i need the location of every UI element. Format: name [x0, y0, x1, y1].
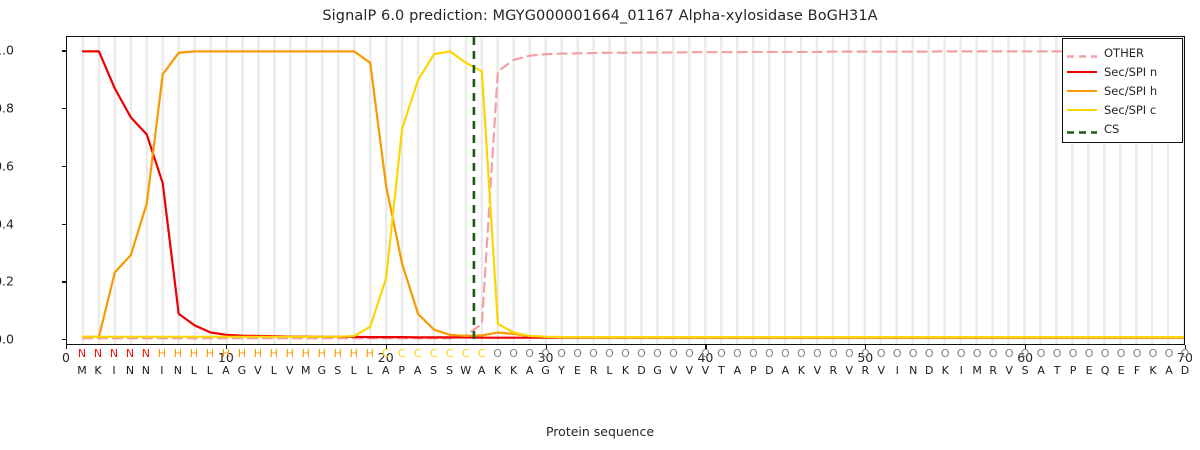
- x-axis-label: Protein sequence: [0, 424, 1200, 439]
- region-letter: N: [126, 346, 134, 362]
- amino-acid-letter: R: [829, 363, 837, 379]
- plot-area: [66, 36, 1185, 345]
- region-letter: H: [238, 346, 246, 362]
- amino-acid-letter: V: [686, 363, 694, 379]
- region-letter: O: [1117, 346, 1126, 362]
- amino-acid-letter: R: [989, 363, 997, 379]
- region-letter: O: [893, 346, 902, 362]
- region-letter: C: [462, 346, 470, 362]
- data-curves: [67, 37, 1184, 344]
- y-tick-label: 0.0: [0, 332, 14, 347]
- amino-acid-letter: L: [207, 363, 213, 379]
- region-letter: O: [1037, 346, 1046, 362]
- amino-acid-letter: D: [925, 363, 933, 379]
- y-tick-label: 1.0: [0, 43, 14, 58]
- amino-acid-letter: G: [653, 363, 662, 379]
- amino-acid-letter: M: [77, 363, 87, 379]
- region-letter: O: [941, 346, 950, 362]
- region-letter: O: [637, 346, 646, 362]
- legend-item: Sec/SPI h: [1067, 81, 1177, 100]
- amino-acid-letter: N: [126, 363, 134, 379]
- region-letter: N: [110, 346, 118, 362]
- region-letter: O: [797, 346, 806, 362]
- region-letter: C: [430, 346, 438, 362]
- legend-line-swatch: [1067, 104, 1097, 115]
- region-letter: O: [509, 346, 518, 362]
- legend-item: OTHER: [1067, 43, 1177, 62]
- amino-acid-letter: S: [1022, 363, 1029, 379]
- amino-acid-letter: A: [1165, 363, 1173, 379]
- amino-acid-letter: T: [718, 363, 725, 379]
- region-letter: O: [749, 346, 758, 362]
- region-letter: O: [781, 346, 790, 362]
- region-letter: N: [94, 346, 102, 362]
- legend-item: Sec/SPI c: [1067, 100, 1177, 119]
- amino-acid-letter: V: [702, 363, 710, 379]
- amino-acid-letter: Y: [558, 363, 565, 379]
- region-letter: H: [254, 346, 262, 362]
- region-letter: H: [270, 346, 278, 362]
- amino-acid-letter: P: [1070, 363, 1077, 379]
- amino-acid-letter: E: [1086, 363, 1093, 379]
- region-letter: C: [382, 346, 390, 362]
- amino-acid-letter: N: [174, 363, 182, 379]
- legend-item: Sec/SPI n: [1067, 62, 1177, 81]
- amino-acid-letter: M: [301, 363, 311, 379]
- amino-acid-letter: A: [1037, 363, 1045, 379]
- legend-label: CS: [1104, 122, 1119, 136]
- amino-acid-letter: E: [574, 363, 581, 379]
- region-letter: N: [78, 346, 86, 362]
- region-letter: H: [302, 346, 310, 362]
- amino-acid-letter: L: [271, 363, 277, 379]
- amino-acid-letter: M: [972, 363, 982, 379]
- amino-acid-letter: Q: [1101, 363, 1110, 379]
- region-letter: O: [557, 346, 566, 362]
- region-letter: H: [318, 346, 326, 362]
- amino-acid-letter: G: [541, 363, 550, 379]
- region-letter: O: [605, 346, 614, 362]
- legend: OTHERSec/SPI nSec/SPI hSec/SPI cCS: [1062, 38, 1183, 143]
- region-letter: O: [861, 346, 870, 362]
- amino-acid-letter: A: [222, 363, 230, 379]
- amino-acid-letter: R: [861, 363, 869, 379]
- amino-acid-letter: G: [238, 363, 247, 379]
- amino-acid-letter: N: [142, 363, 150, 379]
- amino-acid-letter: I: [896, 363, 899, 379]
- y-tick-label: 0.6: [0, 158, 14, 173]
- amino-acid-letter: V: [878, 363, 886, 379]
- amino-acid-letter: A: [782, 363, 790, 379]
- legend-line-swatch: [1067, 66, 1097, 77]
- amino-acid-letter: R: [590, 363, 598, 379]
- region-letter: O: [701, 346, 710, 362]
- region-letter: C: [414, 346, 422, 362]
- amino-acid-letter: S: [446, 363, 453, 379]
- region-letter: H: [366, 346, 374, 362]
- region-letter: H: [286, 346, 294, 362]
- region-letter: C: [446, 346, 454, 362]
- amino-acid-letter: A: [734, 363, 742, 379]
- amino-acid-letter: W: [460, 363, 471, 379]
- amino-acid-letter: T: [1054, 363, 1061, 379]
- amino-acid-letter: I: [160, 363, 163, 379]
- region-letter: H: [222, 346, 230, 362]
- region-letter: O: [573, 346, 582, 362]
- region-letter: C: [398, 346, 406, 362]
- region-letter: O: [1165, 346, 1174, 362]
- region-letter: O: [1181, 346, 1190, 362]
- chart-title: SignalP 6.0 prediction: MGYG000001664_01…: [0, 8, 1200, 24]
- amino-acid-letter: N: [909, 363, 917, 379]
- legend-label: Sec/SPI h: [1104, 84, 1157, 98]
- region-letter: O: [1101, 346, 1110, 362]
- amino-acid-letter: K: [494, 363, 501, 379]
- region-letter: O: [621, 346, 630, 362]
- amino-acid-letter: A: [526, 363, 534, 379]
- region-letter: O: [1053, 346, 1062, 362]
- amino-acid-letter: P: [398, 363, 405, 379]
- region-annotation-row: NNNNNHHHHHHHHHHHHHHCCCCCCCOOOOOOOOOOOOOO…: [66, 346, 1185, 362]
- amino-acid-letter: S: [430, 363, 437, 379]
- region-letter: O: [845, 346, 854, 362]
- region-letter: O: [877, 346, 886, 362]
- amino-acid-letter: A: [478, 363, 486, 379]
- amino-acid-letter: I: [960, 363, 963, 379]
- region-letter: O: [973, 346, 982, 362]
- amino-acid-letter: L: [367, 363, 373, 379]
- amino-acid-letter: K: [510, 363, 517, 379]
- region-letter: O: [1069, 346, 1078, 362]
- amino-acid-sequence-row: MKINNINLLAGVLVMGSLLAPASSWAKKAGYERLKDGVVV…: [66, 363, 1185, 379]
- amino-acid-letter: V: [670, 363, 678, 379]
- region-letter: O: [989, 346, 998, 362]
- region-letter: H: [334, 346, 342, 362]
- amino-acid-letter: V: [846, 363, 854, 379]
- region-letter: O: [733, 346, 742, 362]
- legend-item: CS: [1067, 119, 1177, 138]
- region-letter: O: [829, 346, 838, 362]
- amino-acid-letter: L: [351, 363, 357, 379]
- region-letter: H: [190, 346, 198, 362]
- amino-acid-letter: P: [750, 363, 757, 379]
- legend-label: OTHER: [1104, 46, 1144, 60]
- region-letter: H: [174, 346, 182, 362]
- region-letter: O: [653, 346, 662, 362]
- amino-acid-letter: V: [286, 363, 294, 379]
- amino-acid-letter: K: [622, 363, 629, 379]
- amino-acid-letter: K: [1149, 363, 1156, 379]
- region-letter: O: [541, 346, 550, 362]
- amino-acid-letter: D: [1181, 363, 1189, 379]
- region-letter: O: [1021, 346, 1030, 362]
- region-letter: O: [1005, 346, 1014, 362]
- amino-acid-letter: L: [606, 363, 612, 379]
- region-letter: O: [813, 346, 822, 362]
- region-letter: O: [669, 346, 678, 362]
- legend-line-swatch: [1067, 47, 1097, 58]
- region-letter: O: [1133, 346, 1142, 362]
- amino-acid-letter: V: [1005, 363, 1013, 379]
- amino-acid-letter: V: [254, 363, 262, 379]
- region-letter: N: [142, 346, 150, 362]
- region-letter: C: [478, 346, 486, 362]
- amino-acid-letter: L: [191, 363, 197, 379]
- region-letter: O: [909, 346, 918, 362]
- y-tick-label: 0.8: [0, 101, 14, 116]
- amino-acid-letter: D: [637, 363, 645, 379]
- amino-acid-letter: S: [334, 363, 341, 379]
- amino-acid-letter: A: [414, 363, 422, 379]
- amino-acid-letter: I: [112, 363, 115, 379]
- signalp-prediction-figure: SignalP 6.0 prediction: MGYG000001664_01…: [0, 0, 1200, 450]
- legend-label: Sec/SPI c: [1104, 103, 1156, 117]
- amino-acid-letter: V: [814, 363, 822, 379]
- amino-acid-letter: K: [94, 363, 101, 379]
- amino-acid-letter: G: [318, 363, 327, 379]
- region-letter: O: [1085, 346, 1094, 362]
- legend-label: Sec/SPI n: [1104, 65, 1157, 79]
- region-letter: H: [206, 346, 214, 362]
- amino-acid-letter: E: [1118, 363, 1125, 379]
- region-letter: O: [493, 346, 502, 362]
- amino-acid-letter: K: [942, 363, 949, 379]
- region-letter: O: [1149, 346, 1158, 362]
- legend-line-swatch: [1067, 123, 1097, 134]
- amino-acid-letter: D: [765, 363, 773, 379]
- y-tick-label: 0.4: [0, 216, 14, 231]
- region-letter: H: [350, 346, 358, 362]
- region-letter: O: [765, 346, 774, 362]
- region-letter: H: [158, 346, 166, 362]
- amino-acid-letter: A: [382, 363, 390, 379]
- region-letter: O: [589, 346, 598, 362]
- amino-acid-letter: F: [1134, 363, 1140, 379]
- region-letter: O: [957, 346, 966, 362]
- region-letter: O: [685, 346, 694, 362]
- region-letter: O: [525, 346, 534, 362]
- region-letter: O: [925, 346, 934, 362]
- legend-line-swatch: [1067, 85, 1097, 96]
- region-letter: O: [717, 346, 726, 362]
- y-tick-label: 0.2: [0, 274, 14, 289]
- amino-acid-letter: K: [798, 363, 805, 379]
